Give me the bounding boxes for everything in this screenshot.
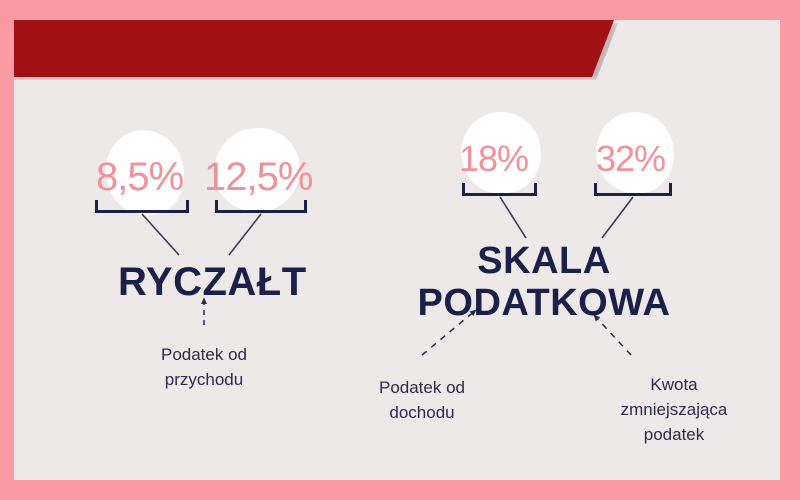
caption-kwota-zmniejszajaca-podatek: Kwota zmniejszająca podatek [594, 372, 754, 447]
heading-ryczalt: RYCZAŁT [118, 260, 307, 305]
rate-ryczalt-1: 8,5% [96, 155, 183, 200]
rate-ryczalt-2: 12,5% [204, 155, 312, 200]
slide-root: Rozliczanie najmu – najem prywatny 8,5% … [0, 0, 800, 500]
bracket-ryczalt-2 [215, 200, 307, 213]
bracket-skala-1 [462, 183, 537, 196]
rate-skala-2: 32% [596, 138, 665, 180]
bracket-ryczalt-1 [95, 200, 189, 213]
caption-podatek-od-przychodu: Podatek od przychodu [126, 342, 282, 392]
heading-skala-line1: SKALA [414, 240, 674, 283]
bracket-skala-2 [594, 183, 672, 196]
rate-skala-1: 18% [459, 138, 528, 180]
slide-canvas: Rozliczanie najmu – najem prywatny 8,5% … [14, 20, 780, 480]
title-banner [14, 20, 614, 77]
heading-skala-line2: PODATKOWA [404, 282, 684, 325]
caption-podatek-od-dochodu: Podatek od dochodu [341, 375, 503, 425]
